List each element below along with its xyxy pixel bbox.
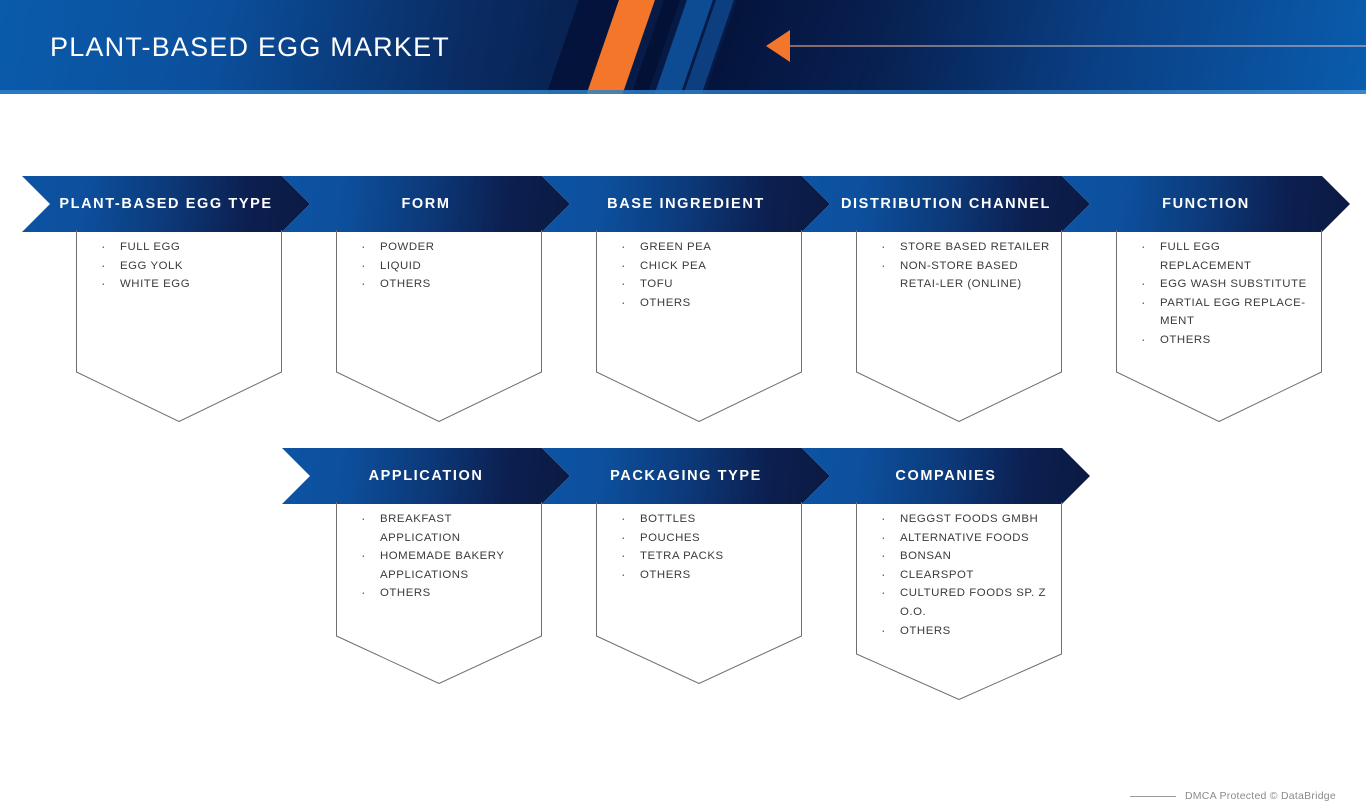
segment-banner[interactable]: APPLICATION — [282, 448, 570, 504]
list-item[interactable]: EGG YOLK — [98, 257, 270, 276]
header-rule — [790, 45, 1366, 47]
segment-banner-label: COMPANIES — [895, 468, 996, 484]
list-item[interactable]: TETRA PACKS — [618, 547, 790, 566]
segment-card: NEGGST FOODS GMBHALTERNATIVE FOODSBONSAN… — [856, 502, 1062, 700]
segment-item-list: POWDERLIQUIDOTHERS — [358, 238, 530, 294]
list-item[interactable]: PARTIAL EGG REPLACE-MENT — [1138, 294, 1310, 331]
list-item[interactable]: STORE BASED RETAILER — [878, 238, 1050, 257]
segment-card: BOTTLESPOUCHESTETRA PACKSOTHERS — [596, 502, 802, 684]
segment-card: FULL EGG REPLACEMENTEGG WASH SUBSTITUTEP… — [1116, 230, 1322, 422]
footer-divider — [1130, 796, 1176, 797]
list-item[interactable]: OTHERS — [358, 275, 530, 294]
list-item[interactable]: CLEARSPOT — [878, 566, 1050, 585]
segment-card: STORE BASED RETAILERNON-STORE BASED RETA… — [856, 230, 1062, 422]
segment-banner[interactable]: BASE INGREDIENT — [542, 176, 830, 232]
list-item[interactable]: GREEN PEA — [618, 238, 790, 257]
segment-card: BREAKFAST APPLICATIONHOMEMADE BAKERY APP… — [336, 502, 542, 684]
segment-banner[interactable]: PACKAGING TYPE — [542, 448, 830, 504]
page-header: PLANT-BASED EGG MARKET — [0, 0, 1366, 94]
list-item[interactable]: BREAKFAST APPLICATION — [358, 510, 530, 547]
footer: DMCA Protected © DataBridge — [1130, 790, 1336, 802]
segment-banner[interactable]: DISTRIBUTION CHANNEL — [802, 176, 1090, 232]
list-item[interactable]: OTHERS — [618, 294, 790, 313]
list-item[interactable]: POWDER — [358, 238, 530, 257]
segment-card: FULL EGGEGG YOLKWHITE EGG — [76, 230, 282, 422]
list-item[interactable]: CULTURED FOODS SP. Z O.O. — [878, 584, 1050, 621]
list-item[interactable]: EGG WASH SUBSTITUTE — [1138, 275, 1310, 294]
segment-item-list: FULL EGG REPLACEMENTEGG WASH SUBSTITUTEP… — [1138, 238, 1310, 350]
segment-banner-label: FUNCTION — [1162, 196, 1250, 212]
list-item[interactable]: OTHERS — [878, 622, 1050, 641]
list-item[interactable]: CHICK PEA — [618, 257, 790, 276]
segment-item-list: NEGGST FOODS GMBHALTERNATIVE FOODSBONSAN… — [878, 510, 1050, 640]
segment-banner-label: APPLICATION — [369, 468, 484, 484]
segment-banner-label: PLANT-BASED EGG TYPE — [59, 196, 272, 212]
page-title: PLANT-BASED EGG MARKET — [50, 0, 450, 94]
list-item[interactable]: HOMEMADE BAKERY APPLICATIONS — [358, 547, 530, 584]
segment-item-list: GREEN PEACHICK PEATOFUOTHERS — [618, 238, 790, 312]
segment-item-list: BOTTLESPOUCHESTETRA PACKSOTHERS — [618, 510, 790, 584]
list-item[interactable]: FULL EGG — [98, 238, 270, 257]
list-item[interactable]: BONSAN — [878, 547, 1050, 566]
segment-card: GREEN PEACHICK PEATOFUOTHERS — [596, 230, 802, 422]
segment-banner-label: BASE INGREDIENT — [607, 196, 765, 212]
segment-banner[interactable]: FORM — [282, 176, 570, 232]
segment-banner-label: FORM — [401, 196, 450, 212]
list-item[interactable]: WHITE EGG — [98, 275, 270, 294]
header-bottom-strip — [0, 90, 1366, 94]
list-item[interactable]: OTHERS — [1138, 331, 1310, 350]
list-item[interactable]: TOFU — [618, 275, 790, 294]
left-arrow-icon — [766, 30, 790, 62]
list-item[interactable]: LIQUID — [358, 257, 530, 276]
copyright-notice: DMCA Protected © DataBridge — [1185, 790, 1336, 802]
list-item[interactable]: OTHERS — [358, 584, 530, 603]
segment-banner-label: DISTRIBUTION CHANNEL — [841, 196, 1051, 212]
segment-banner[interactable]: PLANT-BASED EGG TYPE — [22, 176, 310, 232]
list-item[interactable]: NON-STORE BASED RETAI-LER (ONLINE) — [878, 257, 1050, 294]
segment-item-list: FULL EGGEGG YOLKWHITE EGG — [98, 238, 270, 294]
segment-item-list: STORE BASED RETAILERNON-STORE BASED RETA… — [878, 238, 1050, 294]
list-item[interactable]: BOTTLES — [618, 510, 790, 529]
segment-item-list: BREAKFAST APPLICATIONHOMEMADE BAKERY APP… — [358, 510, 530, 603]
segment-card: POWDERLIQUIDOTHERS — [336, 230, 542, 422]
list-item[interactable]: NEGGST FOODS GMBH — [878, 510, 1050, 529]
list-item[interactable]: ALTERNATIVE FOODS — [878, 529, 1050, 548]
segment-banner-label: PACKAGING TYPE — [610, 468, 762, 484]
list-item[interactable]: POUCHES — [618, 529, 790, 548]
list-item[interactable]: FULL EGG REPLACEMENT — [1138, 238, 1310, 275]
segment-banner[interactable]: FUNCTION — [1062, 176, 1350, 232]
list-item[interactable]: OTHERS — [618, 566, 790, 585]
segment-banner[interactable]: COMPANIES — [802, 448, 1090, 504]
